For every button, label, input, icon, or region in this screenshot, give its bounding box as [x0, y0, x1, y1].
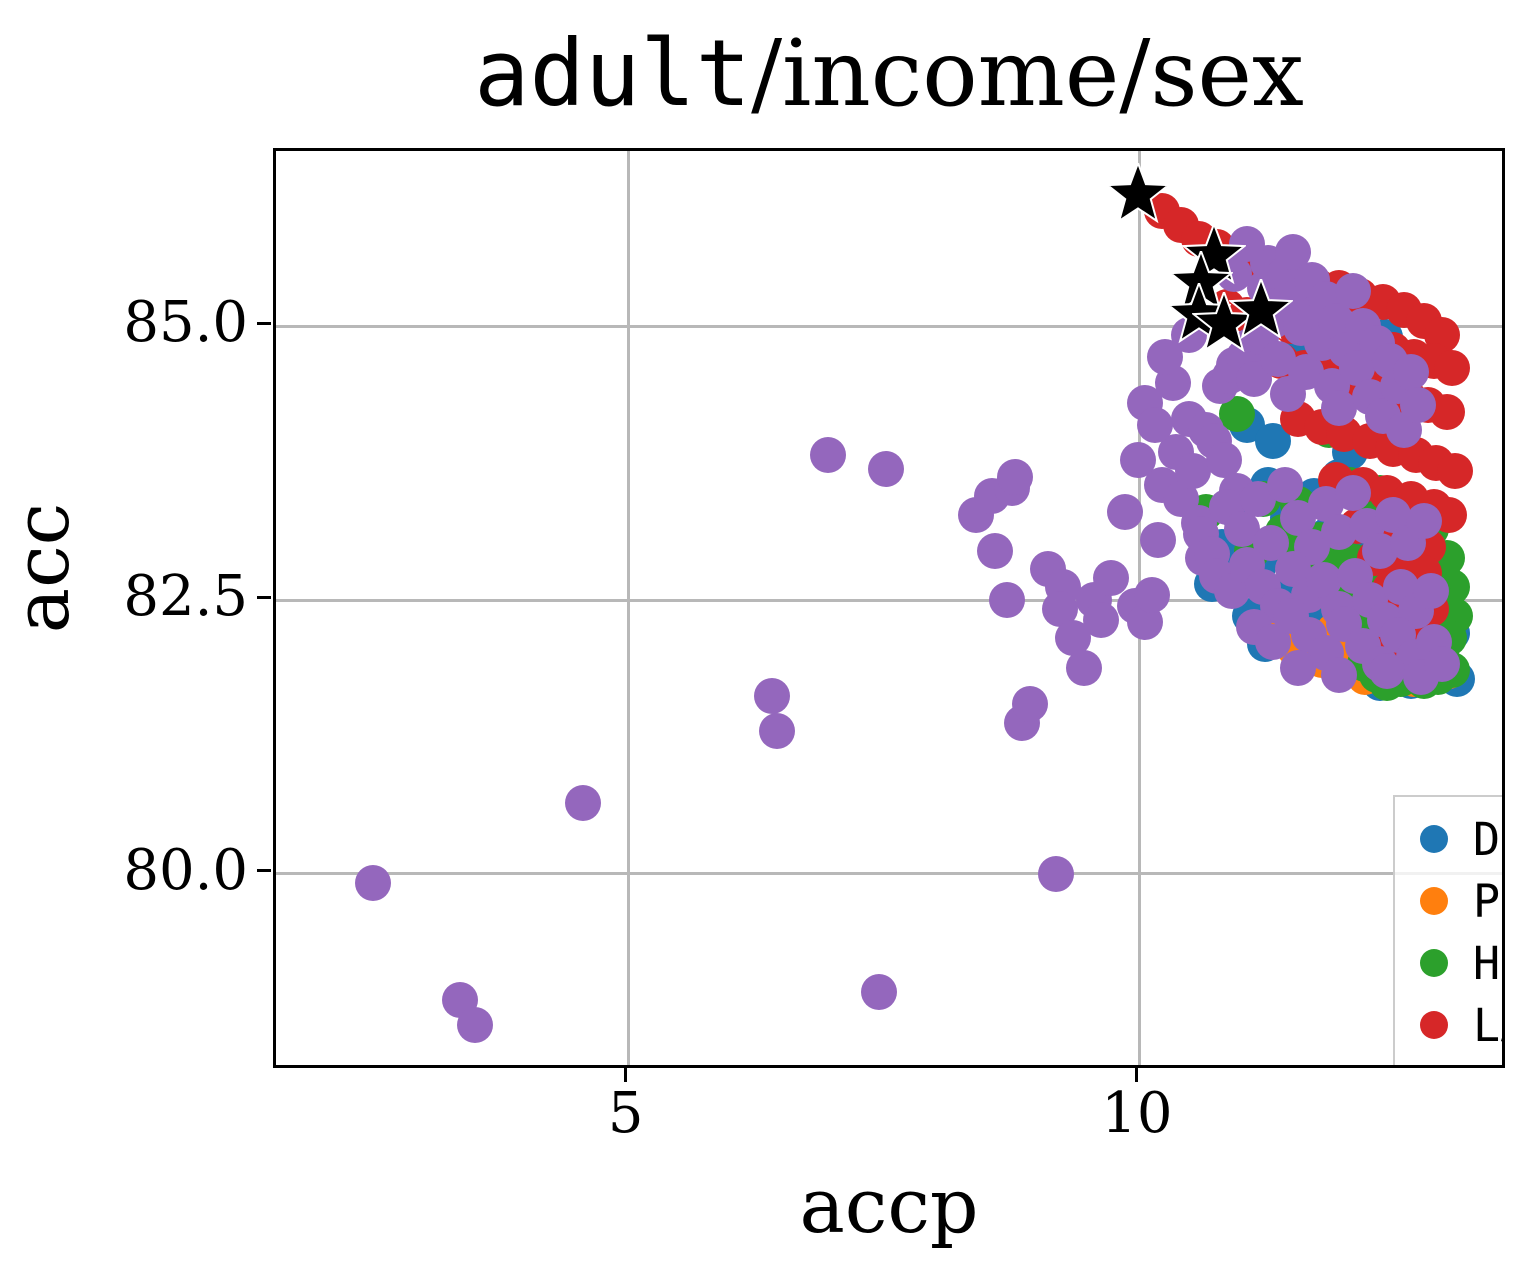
x-tick-mark-1 [1135, 1068, 1138, 1082]
data-point-advdebias [1107, 494, 1143, 530]
legend-label-diffdp: DiffDP [1473, 817, 1505, 862]
data-point-advdebias [754, 678, 790, 714]
data-point-advdebias [1120, 442, 1156, 478]
data-point-advdebias [1137, 407, 1173, 443]
x-tick-label-0: 5 [556, 1086, 696, 1142]
x-axis-label: accp [273, 1168, 1505, 1244]
data-point-advdebias [1280, 650, 1316, 686]
data-point-advdebias [997, 459, 1033, 495]
data-point-advdebias [1012, 686, 1048, 722]
y-tick-mark-0 [257, 322, 271, 325]
plot-area: DiffDPPRemoverHSICLAFTRAdvDebiasERM [273, 148, 1505, 1068]
legend-label-hsic: HSIC [1473, 941, 1505, 986]
x-tick-mark-0 [624, 1068, 627, 1082]
data-point-advdebias [861, 974, 897, 1010]
legend-marker-premover-icon [1395, 887, 1473, 915]
data-point-advdebias [1335, 475, 1371, 511]
data-point-advdebias [810, 437, 846, 473]
data-point-advdebias [1393, 354, 1429, 390]
y-tick-mark-2 [257, 869, 271, 872]
data-point-advdebias [759, 713, 795, 749]
y-tick-label-1: 82.5 [0, 569, 248, 625]
data-point-advdebias [1369, 653, 1405, 689]
y-tick-label-0: 85.0 [0, 295, 248, 351]
gridline-x-0 [627, 151, 630, 1065]
legend-label-advdebias: AdvDebias [1473, 1065, 1505, 1069]
data-point-advdebias [1038, 856, 1074, 892]
legend-marker-hsic-icon [1395, 949, 1473, 977]
y-tick-mark-1 [257, 596, 271, 599]
data-point-advdebias [1267, 467, 1303, 503]
data-point-advdebias [868, 451, 904, 487]
data-point-advdebias [1140, 522, 1176, 558]
chart-title: adult/income/sex [273, 28, 1505, 120]
y-tick-label-2: 80.0 [0, 843, 248, 899]
data-point-advdebias [1413, 573, 1449, 609]
data-point-advdebias [1066, 650, 1102, 686]
legend-label-premover: PRemover [1473, 879, 1505, 924]
data-point-advdebias [1134, 577, 1170, 613]
legend-item-premover[interactable]: PRemover [1395, 871, 1505, 931]
y-axis-label: acc [4, 308, 80, 828]
data-point-laftr [1434, 350, 1470, 386]
legend-item-advdebias[interactable]: AdvDebias [1395, 1057, 1505, 1068]
chart-title-dataset: adult [474, 20, 751, 127]
legend-item-laftr[interactable]: LAFTR [1395, 995, 1505, 1055]
data-point-advdebias [457, 1007, 493, 1043]
data-point-laftr [1437, 453, 1473, 489]
data-point-advdebias [1424, 646, 1460, 682]
data-point-advdebias [565, 785, 601, 821]
data-point-advdebias [989, 582, 1025, 618]
legend-item-hsic[interactable]: HSIC [1395, 933, 1505, 993]
chart-legend[interactable]: DiffDPPRemoverHSICLAFTRAdvDebiasERM [1393, 795, 1505, 1068]
data-point-advdebias [1400, 387, 1436, 423]
data-point-erm [1229, 279, 1293, 347]
x-tick-label-1: 10 [1067, 1086, 1207, 1142]
gridline-y-2 [276, 872, 1502, 875]
data-point-advdebias [1335, 273, 1371, 309]
chart-title-target: /income/sex [751, 20, 1304, 127]
scatter-figure: adult/income/sex acc accp DiffDPPRemover… [0, 0, 1523, 1283]
data-point-advdebias [355, 865, 391, 901]
data-point-erm [1106, 163, 1170, 231]
data-point-advdebias [1406, 503, 1442, 539]
legend-marker-diffdp-icon [1395, 825, 1473, 853]
legend-label-laftr: LAFTR [1473, 1003, 1505, 1048]
data-point-advdebias [977, 533, 1013, 569]
legend-item-diffdp[interactable]: DiffDP [1395, 809, 1505, 869]
legend-marker-laftr-icon [1395, 1011, 1473, 1039]
data-point-advdebias [1321, 657, 1357, 693]
data-point-advdebias [1083, 602, 1119, 638]
